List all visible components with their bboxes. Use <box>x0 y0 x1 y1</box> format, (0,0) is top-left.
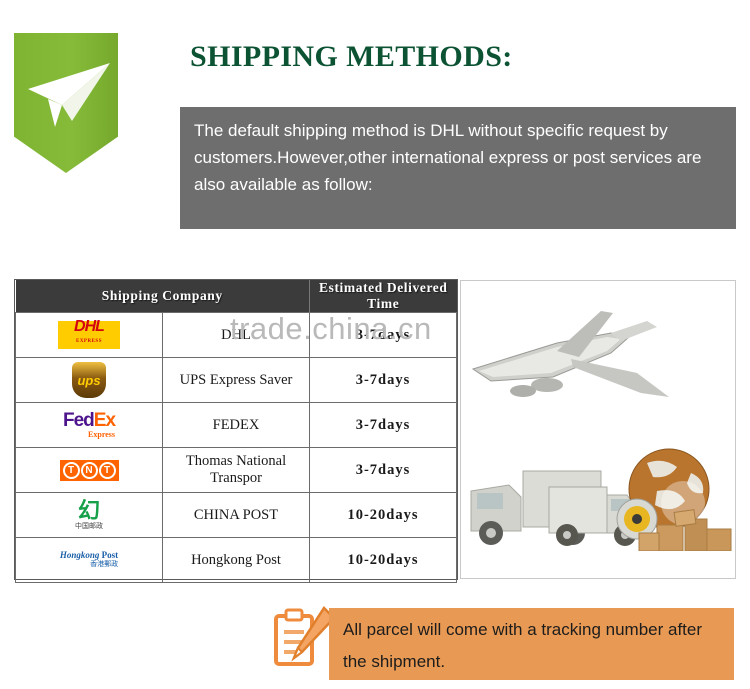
china-post-logo-subtext: 中国邮政 <box>75 523 103 530</box>
airplane-icon <box>473 311 669 397</box>
ups-logo-text: ups <box>77 372 100 389</box>
tnt-logo-cell: TNT <box>16 448 163 493</box>
tracking-note-banner: All parcel will come with a tracking num… <box>329 608 734 680</box>
dhl-logo-subtext: EXPRESS <box>76 333 102 350</box>
ups-logo: ups <box>19 360 159 400</box>
fedex-logo-subtext: Express <box>88 431 115 439</box>
table-row: TNT Thomas National Transpor 3-7days <box>16 448 457 493</box>
delivery-time: 3-7days <box>310 448 457 493</box>
dhl-logo-text: DHL <box>74 320 104 333</box>
delivery-time: 10-20days <box>310 538 457 583</box>
company-name: CHINA POST <box>163 493 310 538</box>
shipping-methods-page: SHIPPING METHODS: The default shipping m… <box>0 0 750 689</box>
company-name: Hongkong Post <box>163 538 310 583</box>
company-name: DHL <box>163 313 310 358</box>
paper-plane-icon <box>22 55 114 143</box>
company-name: FEDEX <box>163 403 310 448</box>
delivery-time: 10-20days <box>310 493 457 538</box>
delivery-time: 3-7days <box>310 403 457 448</box>
logistics-montage-image <box>461 281 736 579</box>
table-row: Hongkong Post 香港郵政 Hongkong Post 10-20da… <box>16 538 457 583</box>
intro-text-box: The default shipping method is DHL witho… <box>180 107 736 229</box>
china-post-logo: 幻 中国邮政 <box>19 495 159 535</box>
dhl-logo: DHL EXPRESS <box>19 315 159 355</box>
china-post-logo-cell: 幻 中国邮政 <box>16 493 163 538</box>
shipping-table-container: Shipping Company Estimated Delivered Tim… <box>14 279 458 580</box>
hongkong-post-logo: Hongkong Post 香港郵政 <box>19 540 159 580</box>
ups-logo-cell: ups <box>16 358 163 403</box>
dhl-logo-cell: DHL EXPRESS <box>16 313 163 358</box>
intro-text: The default shipping method is DHL witho… <box>194 117 724 198</box>
table-row: 幻 中国邮政 CHINA POST 10-20days <box>16 493 457 538</box>
company-name: Thomas National Transpor <box>163 448 310 493</box>
table-row: DHL EXPRESS DHL 3-7days <box>16 313 457 358</box>
table-row: FedEx Express FEDEX 3-7days <box>16 403 457 448</box>
tnt-logo: TNT <box>19 450 159 490</box>
tracking-note-text: All parcel will come with a tracking num… <box>343 614 724 678</box>
column-header-shipping-company: Shipping Company <box>16 280 310 313</box>
company-name: UPS Express Saver <box>163 358 310 403</box>
table-row: ups UPS Express Saver 3-7days <box>16 358 457 403</box>
delivery-time: 3-7days <box>310 358 457 403</box>
table-header-row: Shipping Company Estimated Delivered Tim… <box>16 280 457 313</box>
hongkong-post-logo-cell: Hongkong Post 香港郵政 <box>16 538 163 583</box>
fedex-logo: FedEx Express <box>19 405 159 445</box>
hongkong-post-logo-subtext: 香港郵政 <box>90 561 118 569</box>
delivery-time: 3-7days <box>310 313 457 358</box>
logistics-image-panel <box>460 280 736 579</box>
page-title: SHIPPING METHODS: <box>190 40 513 74</box>
fedex-logo-cell: FedEx Express <box>16 403 163 448</box>
column-header-estimated-delivered-time: Estimated Delivered Time <box>310 280 457 313</box>
shipping-table: Shipping Company Estimated Delivered Tim… <box>15 280 457 583</box>
